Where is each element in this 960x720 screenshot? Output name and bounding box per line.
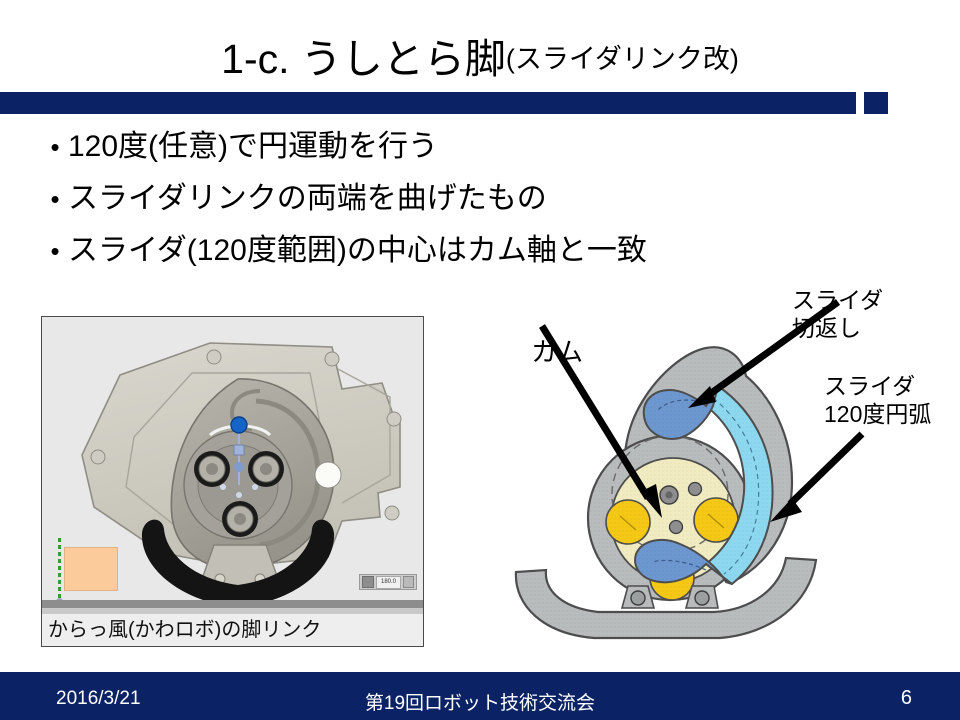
page-title-main: 1-c. うしとら脚: [221, 39, 506, 80]
leg-pivot-bolt: [631, 591, 645, 605]
cad-ground-line: [42, 600, 423, 608]
cad-gizmo-dot: [236, 492, 242, 498]
bullet-marker-icon: •: [42, 124, 68, 170]
cad-bearing-bore: [206, 463, 218, 475]
label-cam: カム: [531, 338, 583, 366]
cad-bearing-bore: [234, 513, 246, 525]
angle-icon: [362, 576, 374, 588]
header-rule-bar: [0, 92, 856, 114]
cad-plate-hole: [325, 352, 339, 366]
cam-pin-upper: [689, 483, 702, 496]
cad-timeline-green-marker: [58, 538, 61, 600]
angle-value[interactable]: 180.0 deg: [376, 576, 401, 589]
list-item: • 120度(任意)で円運動を行う: [42, 124, 922, 170]
bullet-marker-icon: •: [42, 176, 68, 222]
label-slider-arc-line2: 120度円弧: [824, 400, 931, 428]
bullet-list: • 120度(任意)で円運動を行う • スライダリンクの両端を曲げたもの • ス…: [42, 124, 922, 280]
footer-page-number: 6: [901, 687, 912, 710]
label-slider-arc-line1: スライダ: [824, 372, 931, 400]
cad-plate-hole: [91, 450, 105, 464]
list-item: • スライダリンクの両端を曲げたもの: [42, 176, 922, 222]
cad-plate-hole: [207, 350, 221, 364]
label-slider-return-line1: スライダ: [792, 286, 883, 314]
cad-plate-hole: [387, 412, 401, 426]
cad-gizmo-handle[interactable]: [231, 417, 247, 433]
cad-selection-swatch: [64, 547, 118, 591]
bullet-marker-icon: •: [42, 228, 68, 274]
list-item: • スライダ(120度範囲)の中心はカム軸と一致: [42, 228, 922, 274]
cad-plate-hole: [385, 506, 399, 520]
leg-pivot-bolt: [695, 591, 709, 605]
page-title: 1-c. うしとら脚 (スライダリンク改): [0, 28, 960, 90]
bullet-text: スライダリンクの両端を曲げたもの: [68, 176, 547, 222]
bullet-text: 120度(任意)で円運動を行う: [68, 124, 438, 170]
cad-gizmo-dot: [252, 484, 258, 490]
label-slider-return: スライダ 切返し: [792, 286, 883, 342]
cad-angle-input-widget[interactable]: 180.0 deg: [359, 574, 417, 590]
label-slider-return-line2: 切返し: [792, 314, 883, 342]
cad-gizmo-center[interactable]: [234, 462, 244, 472]
page-title-suffix: (スライダリンク改): [506, 46, 739, 73]
cam-shaft-center: [665, 491, 672, 498]
cad-gizmo-square[interactable]: [234, 445, 244, 455]
chevron-down-icon[interactable]: [403, 576, 414, 588]
cad-caption: からっ風(かわロボ)の脚リンク: [42, 614, 423, 646]
cad-axle-hole: [315, 462, 341, 488]
cad-gizmo-dot: [220, 484, 226, 490]
slide: 1-c. うしとら脚 (スライダリンク改) • 120度(任意)で円運動を行う …: [0, 0, 960, 720]
bullet-text: スライダ(120度範囲)の中心はカム軸と一致: [68, 228, 647, 274]
cam-pin-lower: [670, 521, 683, 534]
cam-roller: [606, 500, 650, 544]
header-rule-square: [864, 92, 888, 114]
label-slider-arc: スライダ 120度円弧: [824, 372, 931, 428]
cad-bearing-bore: [260, 463, 272, 475]
footer-event-name: 第19回ロボット技術交流会: [0, 688, 960, 715]
cad-screenshot: 180.0 deg からっ風(かわロボ)の脚リンク: [41, 316, 424, 647]
